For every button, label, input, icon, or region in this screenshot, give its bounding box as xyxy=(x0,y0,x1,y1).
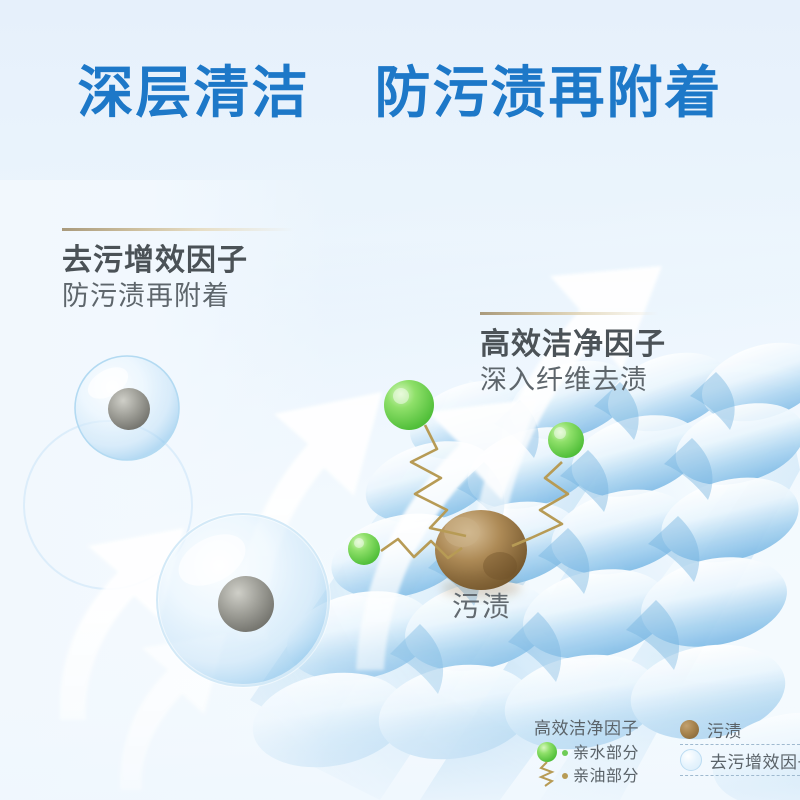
legend-item-hydrophilic: 亲水部分 xyxy=(562,741,639,764)
callout-rule-left xyxy=(62,228,294,231)
legend-hydrophilic-label: 亲水部分 xyxy=(573,741,639,764)
legend-oleophilic-label: 亲油部分 xyxy=(573,764,639,787)
legend-divider-2 xyxy=(680,775,800,776)
legend-stain-label: 污渍 xyxy=(707,717,742,742)
legend-item-booster: 去污增效因子 xyxy=(680,745,800,775)
legend-booster-label: 去污增效因子 xyxy=(710,748,800,773)
hydrophilic-head-lower-left xyxy=(348,533,380,565)
legend-item-stain: 污渍 xyxy=(680,714,800,744)
page-title: 深层清洁 防污渍再附着 xyxy=(0,48,800,129)
legend: 高效洁净因子 xyxy=(534,714,798,798)
bubble-large-with-stain xyxy=(157,514,329,686)
trapped-stain-particle-small xyxy=(108,388,150,430)
stain-label: 污渍 xyxy=(452,585,512,625)
bubble-icon xyxy=(680,749,702,771)
page-title-part2: 防污渍再附着 xyxy=(375,61,723,126)
callout-left-title: 去污增效因子 xyxy=(62,243,294,278)
callout-rule-right xyxy=(480,312,658,315)
legend-left-column: 高效洁净因子 xyxy=(534,714,676,787)
legend-right-column: 污渍 去污增效因子 xyxy=(680,714,800,776)
callout-left-subtitle: 防污渍再附着 xyxy=(62,280,294,314)
bubble-small-with-stain xyxy=(75,356,179,460)
poster-canvas: 深层清洁 防污渍再附着 去污增效因子 防污渍再附着 高效洁净因子 深入纤维去渍 … xyxy=(0,0,800,800)
callout-anti-redeposition: 去污增效因子 防污渍再附着 xyxy=(62,228,294,314)
page-title-part1: 深层清洁 xyxy=(78,61,310,126)
callout-deep-clean-factor: 高效洁净因子 深入纤维去渍 xyxy=(480,312,708,398)
callout-right-title: 高效洁净因子 xyxy=(480,327,708,362)
hydrophilic-head-right xyxy=(548,422,584,458)
hydrophilic-head-upper-left xyxy=(384,380,434,430)
surfactant-molecule-icon xyxy=(534,741,560,787)
legend-item-oleophilic: 亲油部分 xyxy=(562,764,639,787)
trapped-stain-particle xyxy=(218,576,274,632)
gold-dot-icon xyxy=(562,773,568,779)
legend-left-items: 亲水部分 亲油部分 xyxy=(562,741,639,787)
callout-right-subtitle: 深入纤维去渍 xyxy=(480,364,708,398)
stain-blob-icon xyxy=(680,720,699,739)
green-dot-icon xyxy=(562,750,568,756)
legend-left-title: 高效洁净因子 xyxy=(534,714,676,739)
